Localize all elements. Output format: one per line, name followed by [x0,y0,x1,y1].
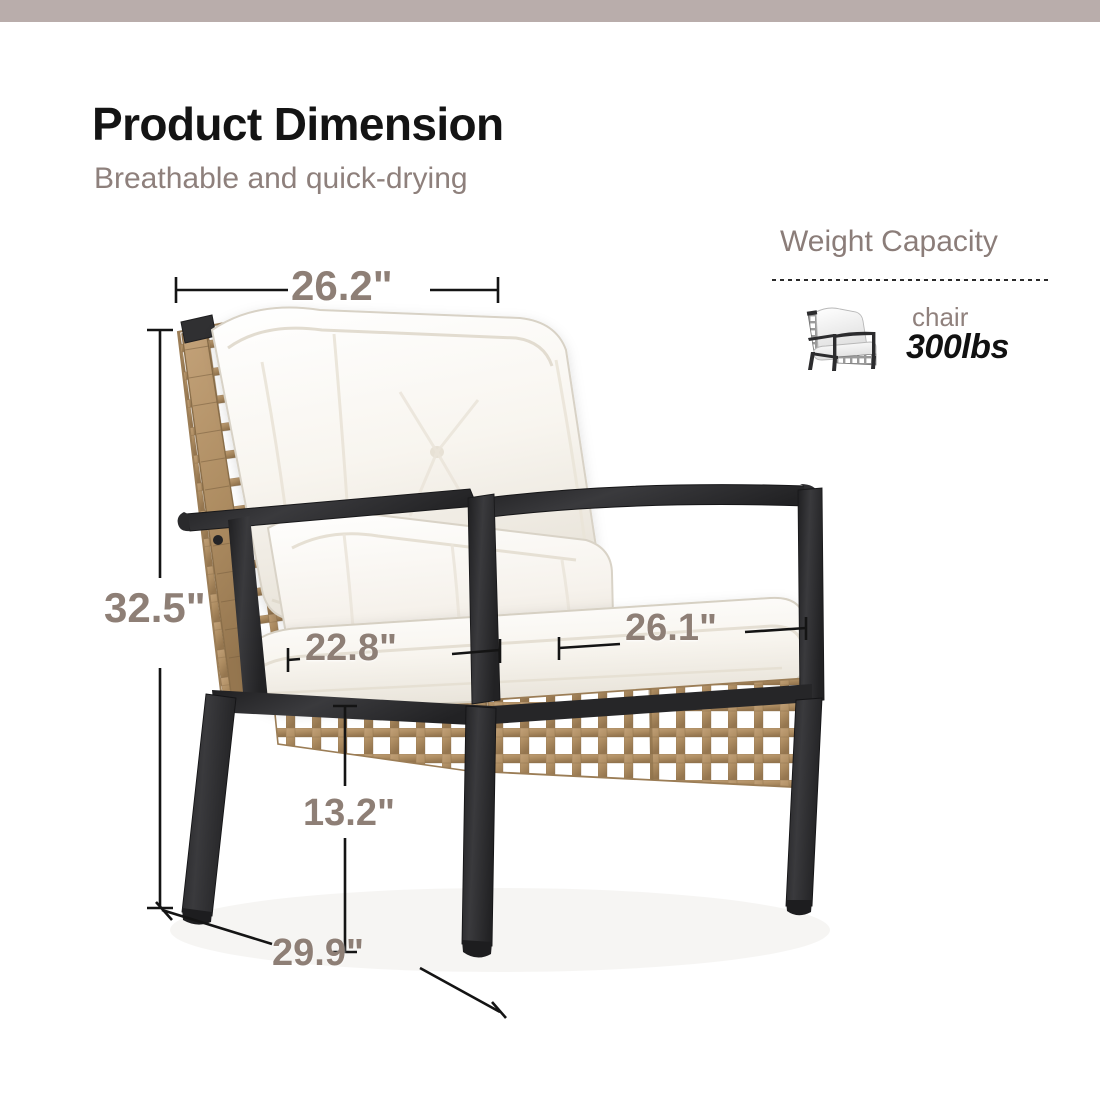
dimline-seat-inner-left [288,659,300,660]
dimline-seat-outer-right [745,628,806,632]
dimension-label-width-top: 26.2" [291,262,393,310]
product-dimension-infographic: Product Dimension Breathable and quick-d… [0,0,1100,1100]
dimension-label-depth: 29.9" [272,932,364,975]
chair-thumbnail-icon [794,300,890,372]
dimension-lines [0,0,1100,1100]
dimline-depth-left [162,910,272,944]
dimension-label-seat-height: 13.2" [303,792,395,835]
dimension-label-seat-width-outer: 26.1" [625,607,717,650]
dimension-label-seat-width-inner: 22.8" [305,627,397,670]
dimension-label-height-left: 32.5" [104,584,206,632]
dimline-seat-inner-right [452,650,500,654]
dimline-depth-right [420,968,500,1012]
weight-capacity-heading: Weight Capacity [780,225,998,259]
dimline-seat-outer-left [559,644,620,648]
weight-capacity-divider [772,279,1048,281]
weight-capacity-item-value: 300lbs [906,328,1009,367]
